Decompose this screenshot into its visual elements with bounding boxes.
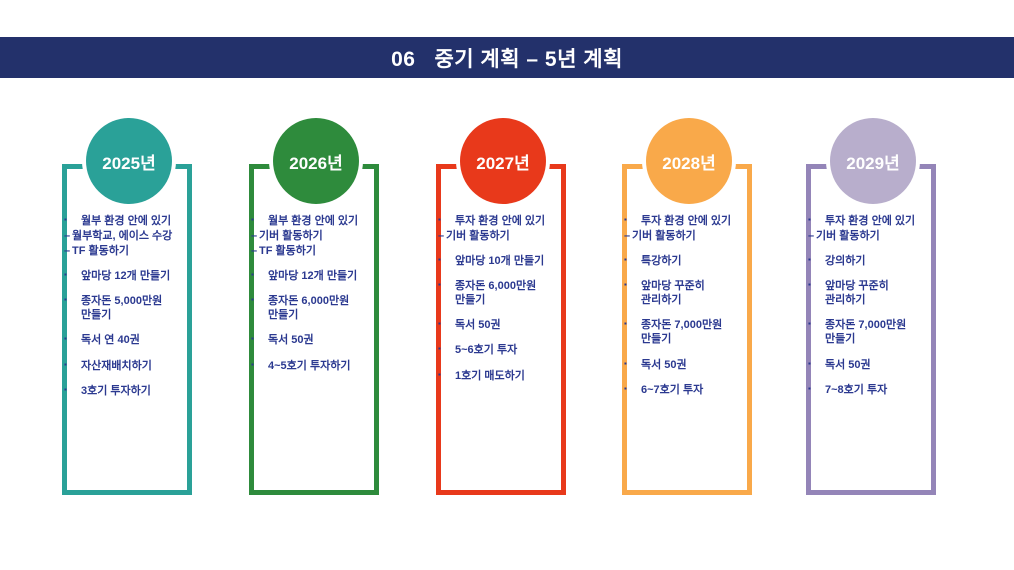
goal-item-label: 투자 환경 안에 있기 <box>822 214 976 228</box>
year-label: 2026년 <box>289 155 342 172</box>
goal-item-label: 독서 50권 <box>452 318 606 332</box>
goal-item: ▪종자돈 6,000만원 만들기 <box>438 279 606 307</box>
square-bullet-icon: ▪ <box>624 215 638 225</box>
goal-item-label: TF 활동하기 <box>72 244 232 258</box>
square-bullet-icon: ▪ <box>64 215 78 225</box>
goal-item: ▪독서 50권 <box>624 358 792 372</box>
five-year-timeline: 2025년 ▪월부 환경 안에 있기–월부학교, 에이스 수강–TF 활동하기▪… <box>0 118 1014 518</box>
square-bullet-icon: ▪ <box>438 344 452 354</box>
goal-item: ▪3호기 투자하기 <box>64 384 232 398</box>
square-bullet-icon: ▪ <box>64 385 78 395</box>
goal-item: ▪월부 환경 안에 있기 <box>64 214 232 228</box>
slide-title-bar: 06 중기 계획 – 5년 계획 <box>0 37 1014 78</box>
goal-item: –TF 활동하기 <box>64 244 232 258</box>
goal-item: ▪독서 50권 <box>808 358 976 372</box>
goal-item: ▪7~8호기 투자 <box>808 383 976 397</box>
goal-item: ▪종자돈 5,000만원 만들기 <box>64 294 232 322</box>
goal-item-label: 앞마당 12개 만들기 <box>78 269 232 283</box>
goal-item-label: 투자 환경 안에 있기 <box>638 214 792 228</box>
goal-item: ▪종자돈 7,000만원 만들기 <box>624 318 792 346</box>
square-bullet-icon: ▪ <box>624 255 638 265</box>
goal-item: ▪독서 50권 <box>251 333 419 347</box>
square-bullet-icon: ▪ <box>64 270 78 280</box>
square-bullet-icon: ▪ <box>251 360 265 370</box>
goal-item-label: 기버 활동하기 <box>259 229 419 243</box>
goal-item-label: 종자돈 6,000만원 만들기 <box>452 279 606 307</box>
square-bullet-icon: ▪ <box>438 280 452 290</box>
goal-item: ▪월부 환경 안에 있기 <box>251 214 419 228</box>
square-bullet-icon: ▪ <box>808 280 822 290</box>
timeline-column-2025: 2025년 ▪월부 환경 안에 있기–월부학교, 에이스 수강–TF 활동하기▪… <box>40 118 226 518</box>
goal-item: ▪5~6호기 투자 <box>438 343 606 357</box>
goal-item: ▪1호기 매도하기 <box>438 369 606 383</box>
goal-item-label: 앞마당 꾸준히 관리하기 <box>822 279 976 307</box>
square-bullet-icon: ▪ <box>251 215 265 225</box>
goal-item-label: 독서 50권 <box>638 358 792 372</box>
goal-item: –기버 활동하기 <box>438 229 606 243</box>
square-bullet-icon: ▪ <box>808 359 822 369</box>
goal-item: ▪종자돈 6,000만원 만들기 <box>251 294 419 322</box>
goal-item-label: 강의하기 <box>822 254 976 268</box>
goal-item: ▪앞마당 10개 만들기 <box>438 254 606 268</box>
square-bullet-icon: ▪ <box>438 215 452 225</box>
goal-item: –월부학교, 에이스 수강 <box>64 229 232 243</box>
square-bullet-icon: ▪ <box>808 255 822 265</box>
goal-item-label: 6~7호기 투자 <box>638 383 792 397</box>
goal-item: ▪앞마당 꾸준히 관리하기 <box>808 279 976 307</box>
year-label: 2027년 <box>476 155 529 172</box>
dash-bullet-icon: – <box>251 229 259 243</box>
goal-item: ▪앞마당 12개 만들기 <box>64 269 232 283</box>
square-bullet-icon: ▪ <box>808 319 822 329</box>
square-bullet-icon: ▪ <box>251 270 265 280</box>
square-bullet-icon: ▪ <box>64 295 78 305</box>
dash-bullet-icon: – <box>251 244 259 258</box>
page-title: 06 중기 계획 – 5년 계획 <box>391 43 623 73</box>
timeline-column-2029: 2029년 ▪투자 환경 안에 있기–기버 활동하기▪강의하기▪앞마당 꾸준히 … <box>784 118 970 518</box>
goal-item-label: 종자돈 6,000만원 만들기 <box>265 294 419 322</box>
goal-item-label: 자산재배치하기 <box>78 359 232 373</box>
goal-list-2025: ▪월부 환경 안에 있기–월부학교, 에이스 수강–TF 활동하기▪앞마당 12… <box>64 214 232 398</box>
goal-item-label: 기버 활동하기 <box>446 229 606 243</box>
goal-item-label: 앞마당 12개 만들기 <box>265 269 419 283</box>
goal-item: –기버 활동하기 <box>251 229 419 243</box>
square-bullet-icon: ▪ <box>808 215 822 225</box>
square-bullet-icon: ▪ <box>624 359 638 369</box>
goal-item: ▪6~7호기 투자 <box>624 383 792 397</box>
year-badge-2028[interactable]: 2028년 <box>646 118 732 204</box>
square-bullet-icon: ▪ <box>251 295 265 305</box>
square-bullet-icon: ▪ <box>438 319 452 329</box>
dash-bullet-icon: – <box>438 229 446 243</box>
goal-item-label: 월부 환경 안에 있기 <box>78 214 232 228</box>
goal-list-2028: ▪투자 환경 안에 있기–기버 활동하기▪특강하기▪앞마당 꾸준히 관리하기▪종… <box>624 214 792 397</box>
goal-item-label: 기버 활동하기 <box>632 229 792 243</box>
square-bullet-icon: ▪ <box>438 255 452 265</box>
goal-item: ▪앞마당 꾸준히 관리하기 <box>624 279 792 307</box>
goal-item: –기버 활동하기 <box>624 229 792 243</box>
goal-item-label: 특강하기 <box>638 254 792 268</box>
year-badge-2027[interactable]: 2027년 <box>460 118 546 204</box>
goal-item-label: 독서 50권 <box>822 358 976 372</box>
year-label: 2025년 <box>102 155 155 172</box>
dash-bullet-icon: – <box>624 229 632 243</box>
year-label: 2028년 <box>662 155 715 172</box>
goal-item: –TF 활동하기 <box>251 244 419 258</box>
goal-item: ▪특강하기 <box>624 254 792 268</box>
square-bullet-icon: ▪ <box>624 384 638 394</box>
goal-item: ▪앞마당 12개 만들기 <box>251 269 419 283</box>
goal-item-label: 투자 환경 안에 있기 <box>452 214 606 228</box>
dash-bullet-icon: – <box>808 229 816 243</box>
goal-item: ▪투자 환경 안에 있기 <box>624 214 792 228</box>
goal-item-label: 기버 활동하기 <box>816 229 976 243</box>
goal-item-label: 앞마당 10개 만들기 <box>452 254 606 268</box>
timeline-column-2027: 2027년 ▪투자 환경 안에 있기–기버 활동하기▪앞마당 10개 만들기▪종… <box>414 118 600 518</box>
goal-item-label: 종자돈 5,000만원 만들기 <box>78 294 232 322</box>
goal-item: –기버 활동하기 <box>808 229 976 243</box>
goal-item-label: 앞마당 꾸준히 관리하기 <box>638 279 792 307</box>
year-badge-2029[interactable]: 2029년 <box>830 118 916 204</box>
goal-item-label: 7~8호기 투자 <box>822 383 976 397</box>
goal-item: ▪종자돈 7,000만원 만들기 <box>808 318 976 346</box>
goal-item-label: 종자돈 7,000만원 만들기 <box>638 318 792 346</box>
dash-bullet-icon: – <box>64 244 72 258</box>
goal-item-label: 종자돈 7,000만원 만들기 <box>822 318 976 346</box>
square-bullet-icon: ▪ <box>64 334 78 344</box>
goal-item: ▪투자 환경 안에 있기 <box>808 214 976 228</box>
goal-item-label: 4~5호기 투자하기 <box>265 359 419 373</box>
square-bullet-icon: ▪ <box>64 360 78 370</box>
goal-item-label: 3호기 투자하기 <box>78 384 232 398</box>
year-badge-2025[interactable]: 2025년 <box>86 118 172 204</box>
goal-list-2029: ▪투자 환경 안에 있기–기버 활동하기▪강의하기▪앞마당 꾸준히 관리하기▪종… <box>808 214 976 397</box>
goal-item-label: 월부학교, 에이스 수강 <box>72 229 232 243</box>
goal-item-label: 1호기 매도하기 <box>452 369 606 383</box>
year-label: 2029년 <box>846 155 899 172</box>
goal-item-label: 독서 50권 <box>265 333 419 347</box>
square-bullet-icon: ▪ <box>624 319 638 329</box>
goal-item: ▪독서 50권 <box>438 318 606 332</box>
goal-item: ▪강의하기 <box>808 254 976 268</box>
goal-list-2026: ▪월부 환경 안에 있기–기버 활동하기–TF 활동하기▪앞마당 12개 만들기… <box>251 214 419 373</box>
goal-item: ▪투자 환경 안에 있기 <box>438 214 606 228</box>
goal-item-label: 월부 환경 안에 있기 <box>265 214 419 228</box>
timeline-column-2028: 2028년 ▪투자 환경 안에 있기–기버 활동하기▪특강하기▪앞마당 꾸준히 … <box>600 118 786 518</box>
goal-item-label: 독서 연 40권 <box>78 333 232 347</box>
timeline-column-2026: 2026년 ▪월부 환경 안에 있기–기버 활동하기–TF 활동하기▪앞마당 1… <box>227 118 413 518</box>
dash-bullet-icon: – <box>64 229 72 243</box>
goal-item: ▪4~5호기 투자하기 <box>251 359 419 373</box>
goal-item: ▪자산재배치하기 <box>64 359 232 373</box>
goal-item-label: TF 활동하기 <box>259 244 419 258</box>
square-bullet-icon: ▪ <box>624 280 638 290</box>
goal-list-2027: ▪투자 환경 안에 있기–기버 활동하기▪앞마당 10개 만들기▪종자돈 6,0… <box>438 214 606 383</box>
square-bullet-icon: ▪ <box>251 334 265 344</box>
square-bullet-icon: ▪ <box>808 384 822 394</box>
goal-item-label: 5~6호기 투자 <box>452 343 606 357</box>
year-badge-2026[interactable]: 2026년 <box>273 118 359 204</box>
goal-item: ▪독서 연 40권 <box>64 333 232 347</box>
square-bullet-icon: ▪ <box>438 370 452 380</box>
